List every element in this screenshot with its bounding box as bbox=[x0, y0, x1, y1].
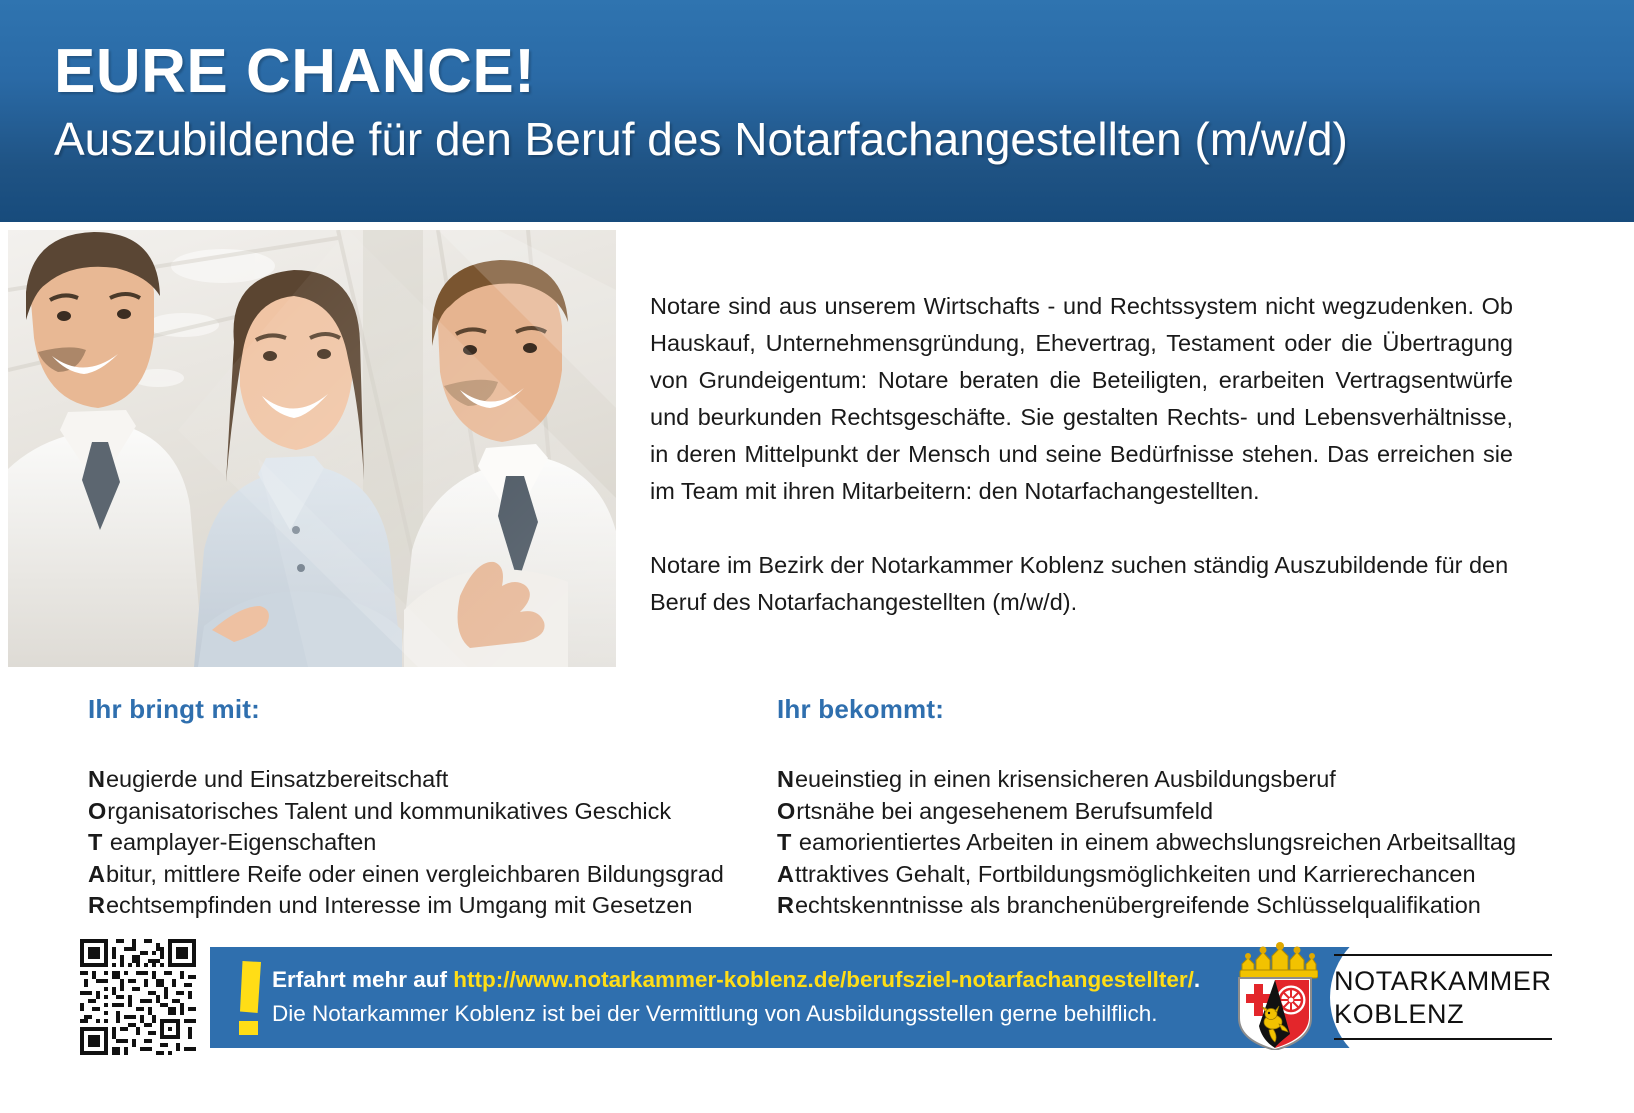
list-item: Ortsnähe bei angesehenem Berufsumfeld bbox=[777, 796, 1567, 828]
logo-wordmark: NOTARKAMMER KOBLENZ bbox=[1334, 954, 1552, 1040]
footer-cta-prefix: Erfahrt mehr auf bbox=[272, 967, 453, 992]
footer-text-block: Erfahrt mehr auf http://www.notarkammer-… bbox=[272, 963, 1362, 1031]
list-item-text: echtsempfinden und Interesse im Umgang m… bbox=[106, 892, 693, 918]
footer-note-line: Die Notarkammer Koblenz ist bei der Verm… bbox=[272, 997, 1362, 1031]
acronym-initial: N bbox=[88, 766, 105, 792]
qr-code-icon[interactable] bbox=[80, 939, 196, 1055]
acronym-initial: O bbox=[777, 798, 795, 824]
page-title: EURE CHANCE! bbox=[54, 38, 1604, 106]
list-item: Neugierde und Einsatzbereitschaft bbox=[88, 764, 748, 796]
intro-text-block: Notare sind aus unserem Wirtschafts - un… bbox=[650, 288, 1513, 621]
intro-paragraph-2: Notare im Bezirk der Notarkammer Koblenz… bbox=[650, 547, 1513, 621]
acronym-initial: O bbox=[88, 798, 106, 824]
list-item: Organisatorisches Talent und kommunikati… bbox=[88, 796, 748, 828]
acronym-initial: N bbox=[777, 766, 794, 792]
logo-line-1: NOTARKAMMER bbox=[1334, 965, 1552, 998]
list-item-text: ttraktives Gehalt, Fortbildungsmöglichke… bbox=[795, 861, 1476, 887]
acronym-initial: T bbox=[88, 829, 102, 855]
header-text-block: EURE CHANCE! Auszubildende für den Beruf… bbox=[54, 38, 1604, 166]
requirements-heading: Ihr bringt mit: bbox=[88, 694, 748, 724]
list-item: Rechtsempfinden und Interesse im Umgang … bbox=[88, 890, 748, 922]
coat-of-arms-icon bbox=[1232, 942, 1318, 1050]
recruitment-poster: EURE CHANCE! Auszubildende für den Beruf… bbox=[0, 0, 1634, 1113]
team-photo bbox=[8, 230, 616, 667]
list-item: Neueinstieg in einen krisensicheren Ausb… bbox=[777, 764, 1567, 796]
list-item-text: eamplayer-Eigenschaften bbox=[103, 829, 376, 855]
footer-cta-line: Erfahrt mehr auf http://www.notarkammer-… bbox=[272, 963, 1362, 997]
requirements-column: Ihr bringt mit: Neugierde und Einsatzber… bbox=[88, 694, 748, 922]
notarkammer-logo: NOTARKAMMER KOBLENZ bbox=[1232, 942, 1552, 1050]
list-item-text: eugierde und Einsatzbereitschaft bbox=[106, 766, 448, 792]
footer-cta-suffix: . bbox=[1194, 967, 1200, 992]
exclamation-stem bbox=[240, 961, 261, 1013]
intro-paragraph-1: Notare sind aus unserem Wirtschafts - un… bbox=[650, 288, 1513, 510]
list-item: Rechtskenntnisse als branchenübergreifen… bbox=[777, 890, 1567, 922]
list-item-text: eamorientiertes Arbeiten in einem abwech… bbox=[792, 829, 1516, 855]
list-item: T eamplayer-Eigenschaften bbox=[88, 827, 748, 859]
acronym-initial: R bbox=[88, 892, 105, 918]
acronym-initial: R bbox=[777, 892, 794, 918]
list-item: Abitur, mittlere Reife oder einen vergle… bbox=[88, 859, 748, 891]
qr-code-graphic bbox=[80, 939, 196, 1055]
requirements-list: Neugierde und Einsatzbereitschaft Organi… bbox=[88, 764, 748, 922]
benefits-list: Neueinstieg in einen krisensicheren Ausb… bbox=[777, 764, 1567, 922]
list-item-text: rganisatorisches Talent und kommunikativ… bbox=[107, 798, 671, 824]
list-item: T eamorientiertes Arbeiten in einem abwe… bbox=[777, 827, 1567, 859]
exclamation-icon bbox=[238, 961, 262, 1034]
page-subtitle: Auszubildende für den Beruf des Notarfac… bbox=[54, 112, 1604, 166]
benefits-heading: Ihr bekommt: bbox=[777, 694, 1567, 724]
benefits-column: Ihr bekommt: Neueinstieg in einen krisen… bbox=[777, 694, 1567, 922]
poster-header: EURE CHANCE! Auszubildende für den Beruf… bbox=[0, 0, 1634, 222]
team-photo-illustration bbox=[8, 230, 616, 667]
website-link[interactable]: http://www.notarkammer-koblenz.de/berufs… bbox=[453, 967, 1194, 992]
list-item: Attraktives Gehalt, Fortbildungsmöglichk… bbox=[777, 859, 1567, 891]
list-item-text: rtsnähe bei angesehenem Berufsumfeld bbox=[796, 798, 1213, 824]
list-item-text: eueinstieg in einen krisensicheren Ausbi… bbox=[795, 766, 1336, 792]
exclamation-dot bbox=[239, 1021, 258, 1035]
acronym-initial: A bbox=[88, 861, 105, 887]
acronym-initial: T bbox=[777, 829, 791, 855]
logo-line-2: KOBLENZ bbox=[1334, 998, 1552, 1031]
list-item-text: echtskenntnisse als branchenübergreifend… bbox=[795, 892, 1481, 918]
logo-bottom-rule bbox=[1334, 1038, 1552, 1040]
list-item-text: bitur, mittlere Reife oder einen verglei… bbox=[106, 861, 724, 887]
acronym-initial: A bbox=[777, 861, 794, 887]
